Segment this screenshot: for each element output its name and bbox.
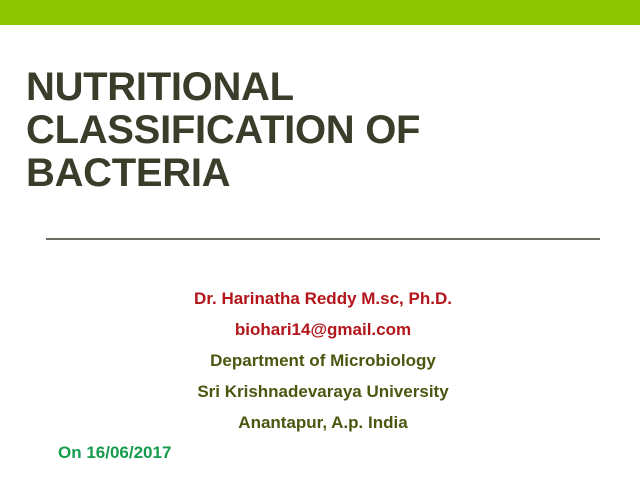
presentation-date: On 16/06/2017 <box>58 442 171 464</box>
author-location: Anantapur, A.p. India <box>46 407 600 438</box>
author-department: Department of Microbiology <box>46 345 600 376</box>
author-university: Sri Krishnadevaraya University <box>46 376 600 407</box>
green-accent-band <box>0 0 640 25</box>
author-details-block: Dr. Harinatha Reddy M.sc, Ph.D. biohari1… <box>46 283 600 438</box>
title-block: NUTRITIONAL CLASSIFICATION OF BACTERIA <box>26 66 616 195</box>
author-name: Dr. Harinatha Reddy M.sc, Ph.D. <box>46 283 600 314</box>
presentation-slide: NUTRITIONAL CLASSIFICATION OF BACTERIA D… <box>0 0 640 480</box>
author-email[interactable]: biohari14@gmail.com <box>46 314 600 345</box>
title-divider-rule <box>46 238 600 240</box>
page-title: NUTRITIONAL CLASSIFICATION OF BACTERIA <box>26 66 616 195</box>
